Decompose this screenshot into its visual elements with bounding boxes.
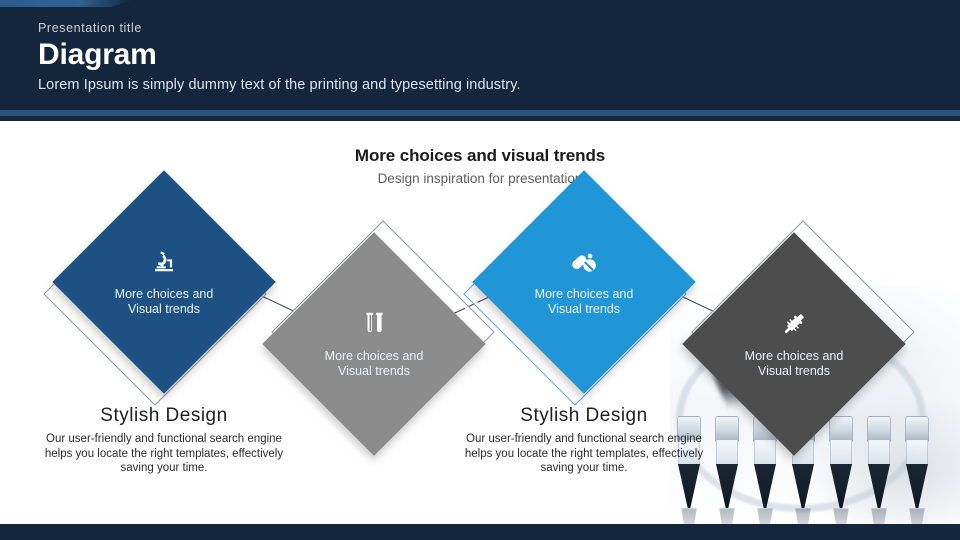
node-4-label-line1: More choices and (719, 349, 869, 365)
node-3-diamond[interactable]: More choices and Visual trends (472, 170, 695, 393)
node-2-label: More choices and Visual trends (299, 349, 449, 380)
header-stripe-dark (0, 116, 960, 121)
microscope-icon (149, 247, 179, 277)
presentation-title: Presentation title (38, 20, 521, 36)
node-3-label: More choices and Visual trends (509, 287, 659, 318)
header-subtitle: Lorem Ipsum is simply dummy text of the … (38, 75, 521, 95)
node-1-label: More choices and Visual trends (89, 287, 239, 318)
header-accent-bar (0, 0, 132, 7)
pills-icon (569, 247, 599, 277)
microtube (714, 416, 740, 508)
test-tubes-icon (359, 309, 389, 339)
page-title: Diagram (38, 37, 521, 73)
caption-block-2: Stylish Design Our user-friendly and fun… (454, 404, 714, 476)
node-1-label-line1: More choices and (89, 287, 239, 303)
diagram-subtitle: Design inspiration for presentation (0, 171, 960, 186)
microtube (828, 416, 854, 508)
node-4-label: More choices and Visual trends (719, 349, 869, 380)
microtube (866, 416, 892, 508)
node-2-label-line1: More choices and (299, 349, 449, 365)
footer-bar (0, 524, 960, 540)
node-3-label-line2: Visual trends (509, 302, 659, 318)
caption-block-1: Stylish Design Our user-friendly and fun… (34, 404, 294, 476)
caption-2-body: Our user-friendly and functional search … (454, 432, 714, 476)
diagram-title: More choices and visual trends (0, 146, 960, 166)
caption-1-title: Stylish Design (34, 404, 294, 428)
caption-2-title: Stylish Design (454, 404, 714, 428)
node-3-label-line1: More choices and (509, 287, 659, 303)
node-4-diamond[interactable]: More choices and Visual trends (682, 232, 905, 455)
slide-header: Presentation title Diagram Lorem Ipsum i… (0, 0, 960, 110)
node-1-diamond[interactable]: More choices and Visual trends (52, 170, 275, 393)
microtube (904, 416, 930, 508)
caption-1-body: Our user-friendly and functional search … (34, 432, 294, 476)
node-2-label-line2: Visual trends (299, 364, 449, 380)
node-4-label-line2: Visual trends (719, 364, 869, 380)
syringe-icon (779, 309, 809, 339)
slide: Presentation title Diagram Lorem Ipsum i… (0, 0, 960, 540)
node-1-label-line2: Visual trends (89, 302, 239, 318)
node-2-diamond[interactable]: More choices and Visual trends (262, 232, 485, 455)
header-text-block: Presentation title Diagram Lorem Ipsum i… (38, 20, 521, 95)
